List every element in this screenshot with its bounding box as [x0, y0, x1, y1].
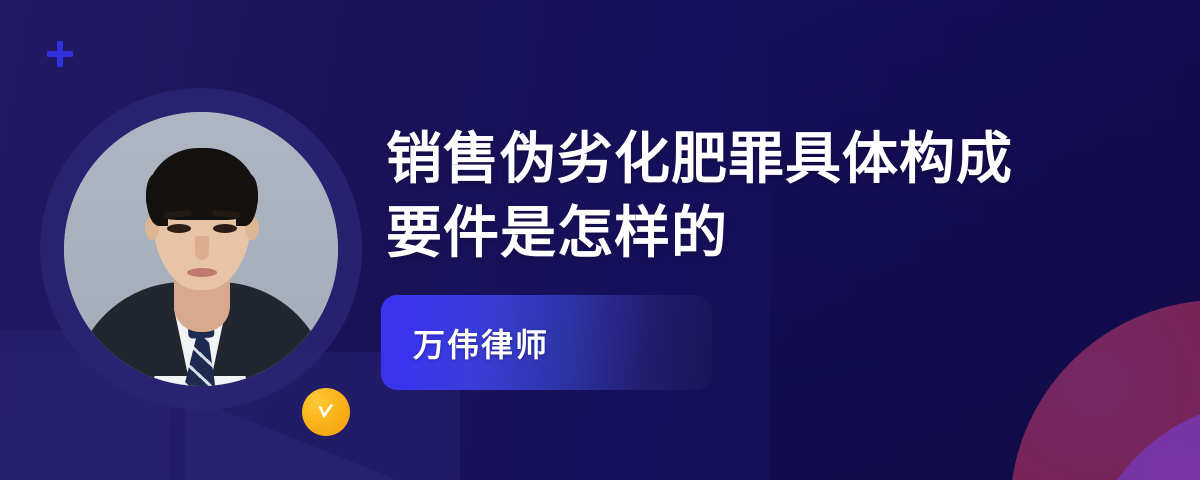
- lawyer-name-label: 万伟律师: [381, 320, 549, 366]
- avatar-photo: [64, 112, 338, 386]
- plus-icon-vertical-bar: [57, 41, 63, 67]
- page-title: 销售伪劣化肥罪具体构成 要件是怎样的: [386, 122, 1086, 270]
- verified-badge-icon: [302, 388, 350, 436]
- lawyer-question-banner: 销售伪劣化肥罪具体构成 要件是怎样的 万伟律师: [0, 0, 1200, 480]
- portrait-mouth: [187, 268, 217, 277]
- portrait-eye-right: [213, 224, 237, 233]
- lawyer-name-badge[interactable]: 万伟律师: [381, 295, 712, 390]
- portrait-eye-left: [167, 224, 191, 233]
- portrait-nose: [195, 236, 209, 260]
- avatar[interactable]: [40, 88, 362, 410]
- plus-icon: [44, 38, 76, 70]
